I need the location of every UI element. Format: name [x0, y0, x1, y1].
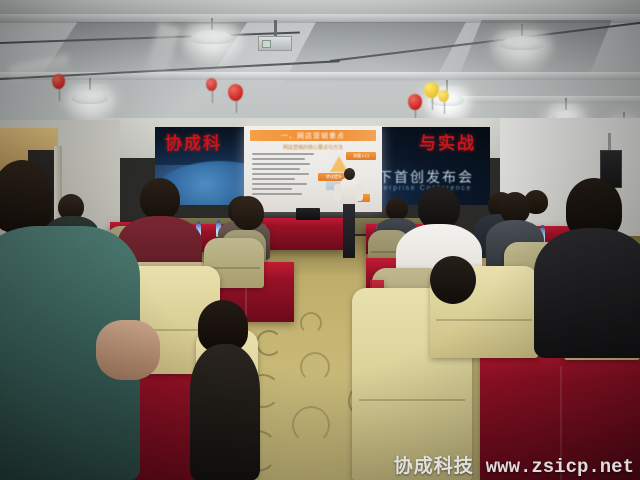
backdrop-subtitle-cn: 下首创发布会 — [378, 167, 474, 187]
carpet-swirl — [256, 330, 282, 356]
balloon-yellow-2 — [438, 90, 449, 102]
speaker-bracket — [608, 133, 611, 151]
ceiling-slab — [0, 0, 640, 14]
balloon-red-4 — [408, 94, 422, 110]
presenter-arm-left — [334, 184, 341, 201]
presenter-legs — [343, 202, 355, 258]
audience-head — [386, 198, 408, 220]
balloon-red-3 — [206, 78, 217, 91]
foreground-arm-left — [96, 320, 160, 380]
presenter-head — [344, 168, 355, 180]
audience-head — [140, 178, 180, 220]
presenter-arm-right — [356, 184, 363, 201]
slide-subtitle: 网店营销的核心要点与方法 — [244, 144, 382, 151]
slide-title-band: 一、网店营销重点 — [250, 130, 376, 141]
balloon-red-2 — [228, 84, 243, 101]
carpet-swirl — [292, 406, 330, 444]
conference-room-photograph: 协成科 与实战 下首创发布会 IT Enterprise Conference … — [0, 0, 640, 480]
ceiling-projector — [258, 36, 292, 51]
carpet-swirl — [300, 352, 330, 382]
projector-mount — [274, 20, 277, 36]
audience-head — [232, 196, 264, 230]
carpet-swirl — [300, 312, 322, 334]
projector-lens — [262, 40, 271, 48]
slide-chip-1: 流量入口 — [346, 152, 376, 160]
foreground-head-left — [0, 160, 52, 232]
presenter-laptop — [296, 208, 320, 220]
backdrop-title-left: 协成科 — [165, 129, 222, 154]
slide-bullet-list — [252, 153, 314, 198]
balloon-yellow-1 — [424, 82, 439, 98]
foreground-person-right — [534, 228, 640, 358]
slide-title-text: 一、网店营销重点 — [250, 131, 376, 141]
foreground-person-mid — [190, 344, 260, 480]
stage-table — [262, 218, 344, 250]
balloon-red-1 — [52, 74, 65, 89]
foreground-head-center — [430, 256, 476, 304]
backdrop-title-right: 与实战 — [419, 129, 476, 154]
